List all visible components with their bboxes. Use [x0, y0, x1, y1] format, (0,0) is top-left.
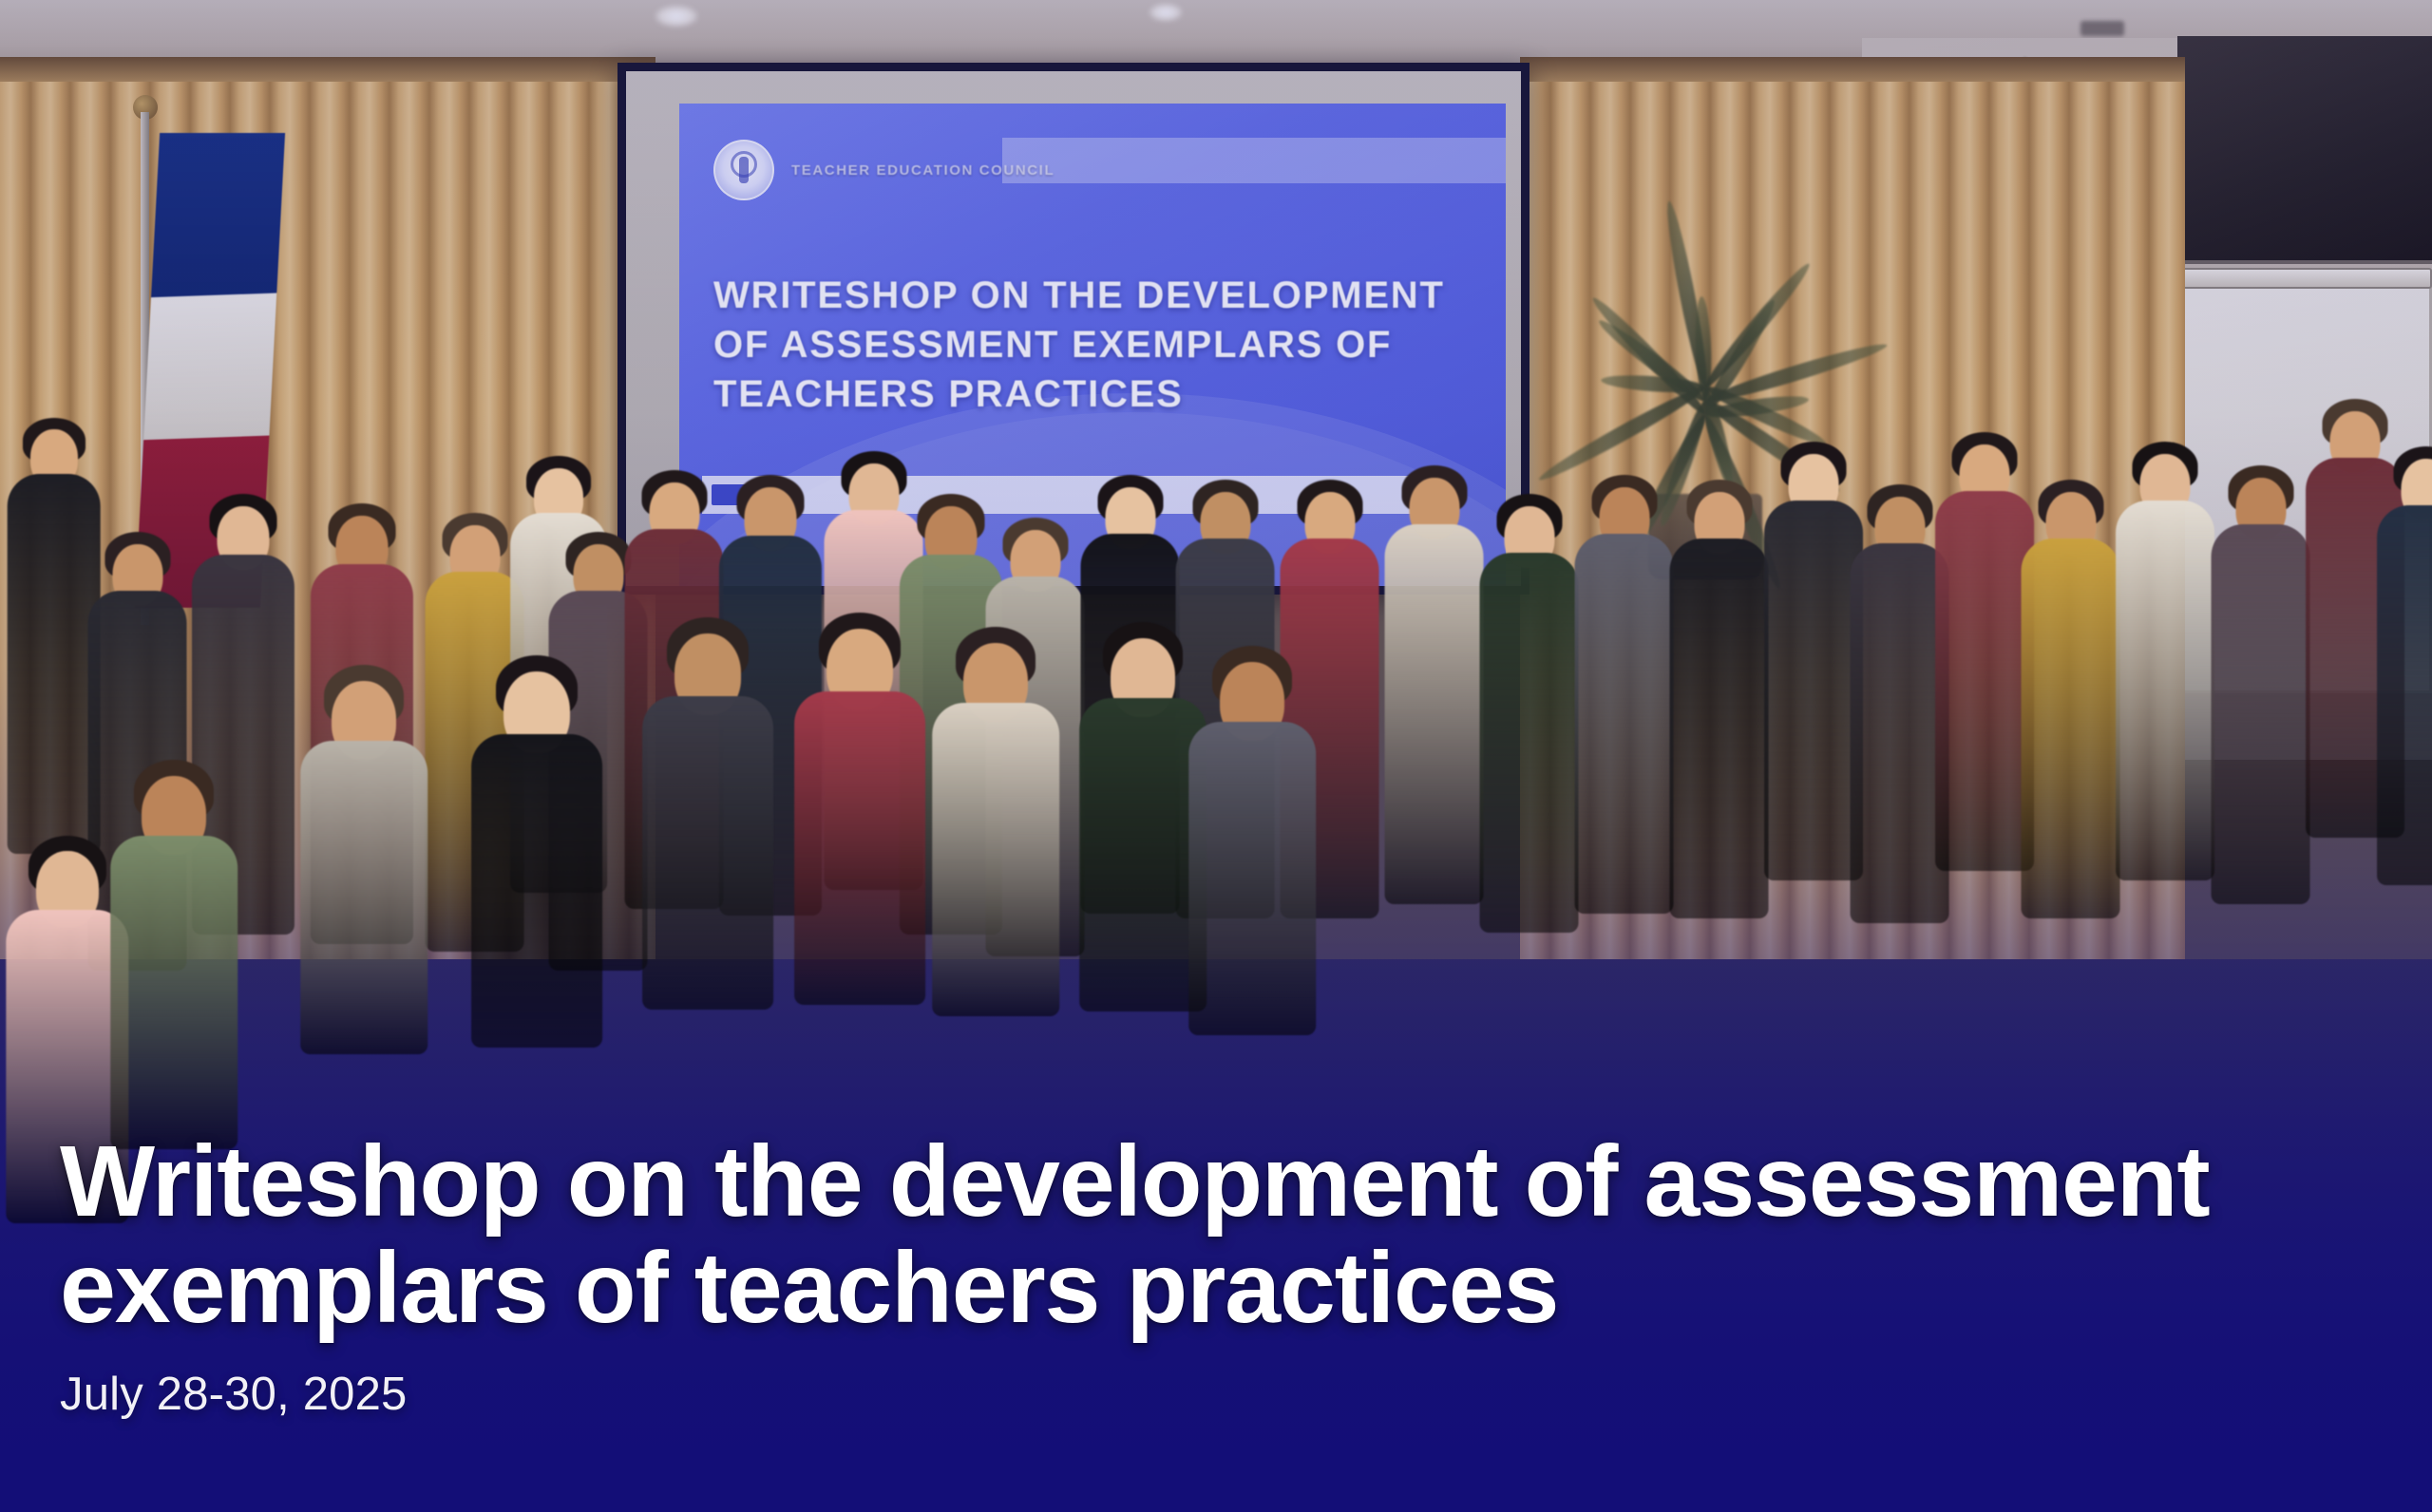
ceiling-light-icon: [1149, 4, 1182, 21]
torso: [471, 734, 602, 1048]
person: [2380, 446, 2432, 1035]
torso: [1079, 698, 1206, 1011]
torso: [1188, 722, 1316, 1035]
slide-organization-label: TEACHER EDUCATION COUNCIL: [791, 162, 1054, 179]
torso: [7, 474, 101, 854]
torso: [642, 696, 773, 1010]
person: [475, 655, 598, 1187]
torso: [1479, 553, 1579, 933]
teacher-education-council-seal-icon: [713, 140, 774, 200]
torso: [2211, 524, 2310, 904]
person: [2023, 480, 2118, 1068]
caption-block: Writeshop on the development of assessme…: [60, 1129, 2394, 1421]
slide-top-bar: [1002, 138, 1506, 183]
person: [2118, 442, 2212, 1030]
flag-white-band: [139, 292, 285, 441]
person: [1387, 465, 1481, 1054]
curtain-rail-right: [1520, 57, 2185, 82]
torso: [2377, 505, 2432, 885]
person: [304, 665, 424, 1197]
wall-monitor: [2177, 36, 2432, 264]
torso: [1764, 501, 1863, 880]
person: [2213, 465, 2308, 1054]
torso: [110, 836, 237, 1149]
person: [1938, 432, 2031, 1021]
slide-title: WRITESHOP ON THE DEVELOPMENT OF ASSESSME…: [713, 271, 1454, 419]
torso: [1384, 524, 1484, 904]
torso: [794, 691, 925, 1005]
torso: [300, 741, 427, 1054]
torso: [2021, 539, 2120, 918]
ceiling-vent: [2080, 21, 2124, 36]
torso: [2116, 501, 2214, 880]
person: [1767, 442, 1860, 1030]
torso: [1574, 534, 1674, 914]
person: [1577, 475, 1671, 1064]
person: [1192, 646, 1312, 1178]
torso: [1669, 539, 1769, 918]
person: [1852, 484, 1947, 1073]
event-date: July 28-30, 2025: [60, 1368, 2394, 1421]
slide-logo-row: TEACHER EDUCATION COUNCIL: [713, 140, 1054, 200]
person: [1672, 480, 1766, 1068]
ceiling-light-icon: [655, 6, 697, 27]
person: [936, 627, 1055, 1159]
torso: [932, 703, 1059, 1016]
event-banner-card: TEACHER EDUCATION COUNCIL WRITESHOP ON T…: [0, 0, 2432, 1512]
curtain-rail-left: [0, 57, 655, 82]
person: [646, 617, 769, 1149]
event-title: Writeshop on the development of assessme…: [60, 1129, 2394, 1341]
torso: [1935, 491, 2034, 871]
person: [1083, 622, 1203, 1154]
person: [1482, 494, 1576, 1083]
person: [798, 613, 921, 1144]
